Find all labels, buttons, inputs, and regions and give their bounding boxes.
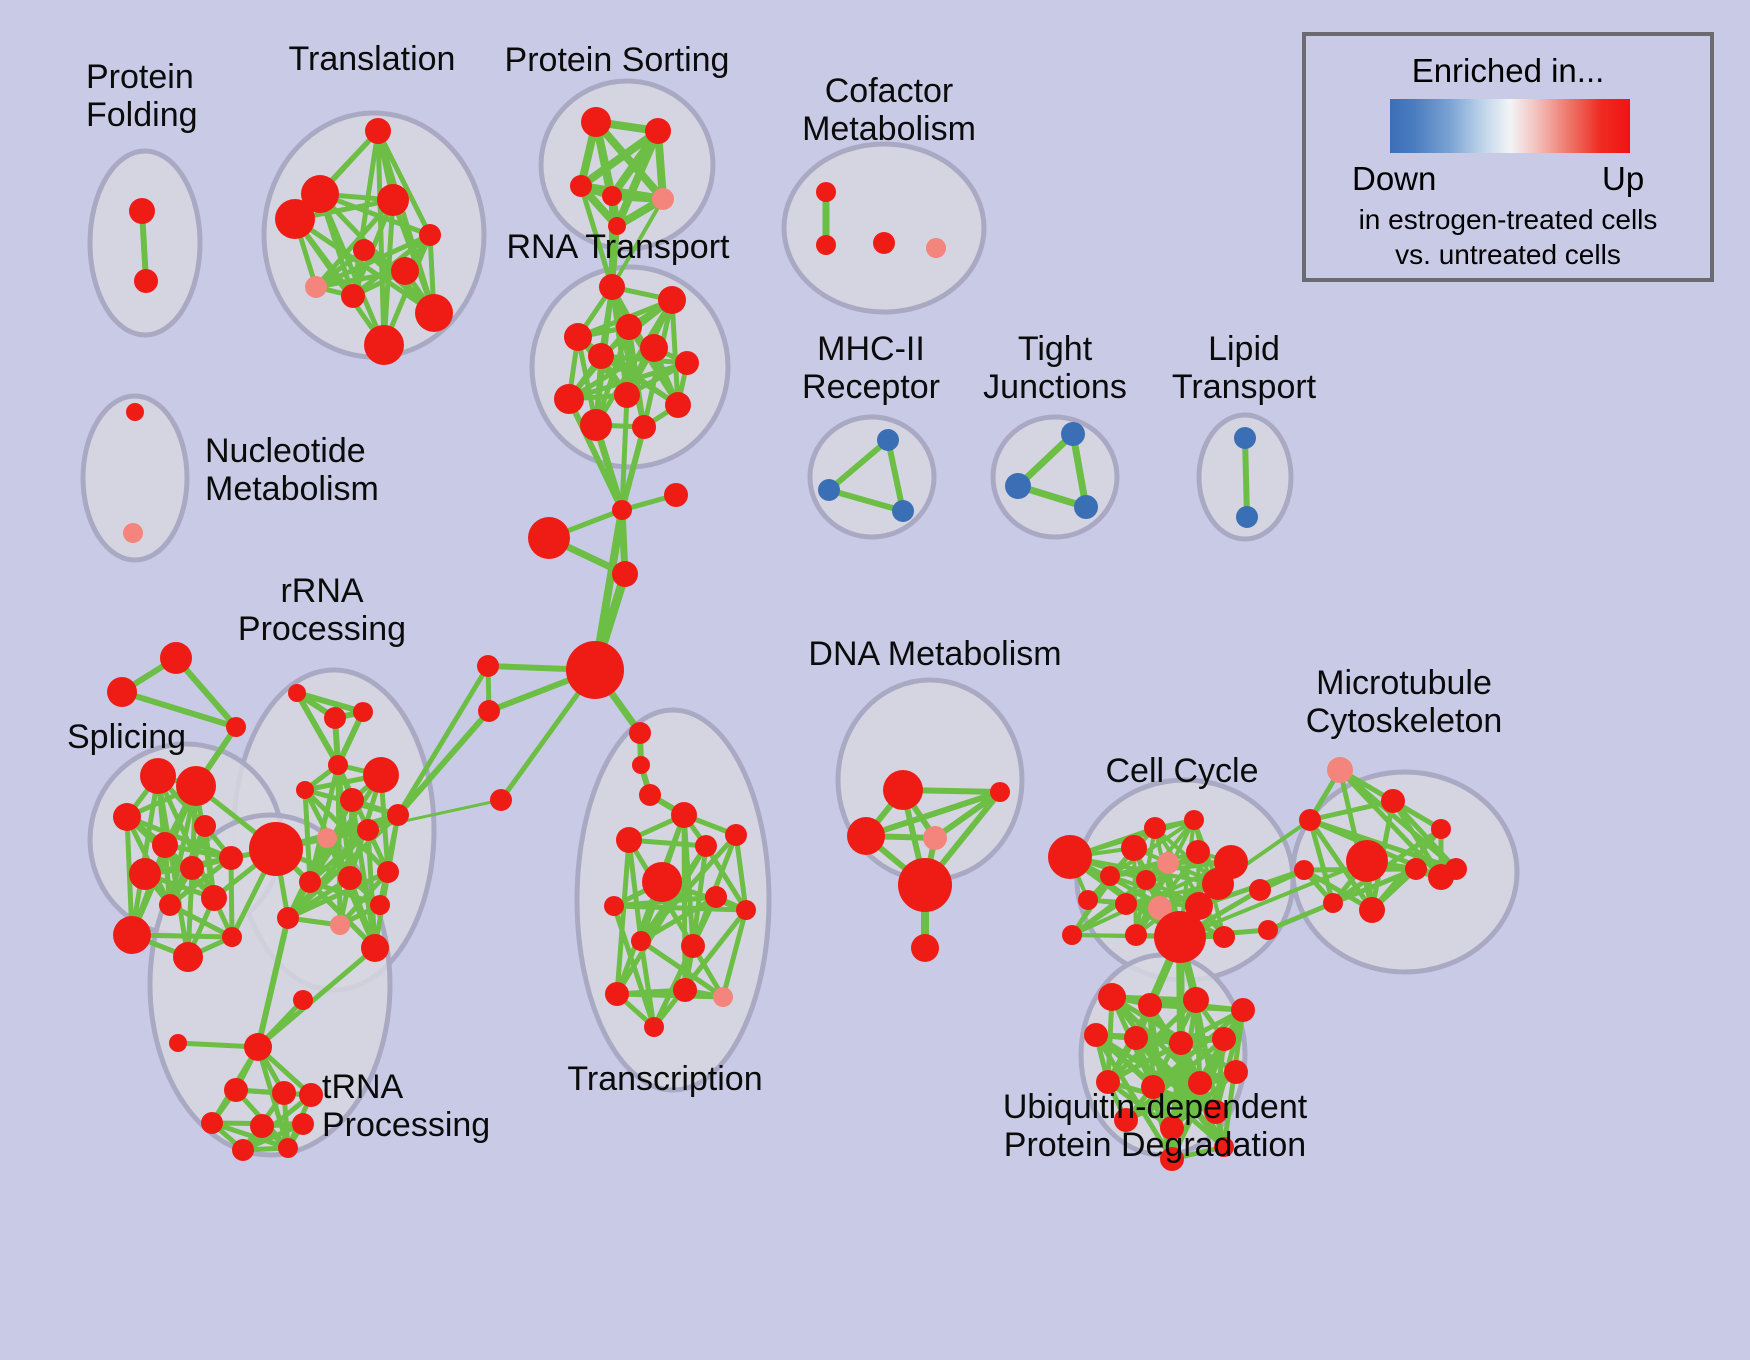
network-node[interactable] bbox=[219, 846, 243, 870]
network-node[interactable] bbox=[1258, 920, 1278, 940]
network-node[interactable] bbox=[632, 756, 650, 774]
network-node[interactable] bbox=[1048, 835, 1092, 879]
network-node[interactable] bbox=[113, 803, 141, 831]
network-node[interactable] bbox=[664, 483, 688, 507]
network-node[interactable] bbox=[176, 766, 216, 806]
legend-high-label: Up bbox=[1602, 160, 1644, 198]
network-node[interactable] bbox=[232, 1139, 254, 1161]
network-node[interactable] bbox=[1121, 835, 1147, 861]
network-node[interactable] bbox=[272, 1081, 296, 1105]
network-node[interactable] bbox=[317, 828, 337, 848]
network-node[interactable] bbox=[338, 866, 362, 890]
network-node[interactable] bbox=[602, 186, 622, 206]
network-node[interactable] bbox=[387, 804, 409, 826]
network-node[interactable] bbox=[126, 403, 144, 421]
network-node[interactable] bbox=[224, 1078, 248, 1102]
network-node[interactable] bbox=[1124, 1026, 1148, 1050]
network-node[interactable] bbox=[681, 934, 705, 958]
cluster-label-translation: Translation bbox=[289, 40, 456, 78]
network-node[interactable] bbox=[642, 862, 682, 902]
network-node[interactable] bbox=[330, 915, 350, 935]
network-node[interactable] bbox=[566, 641, 624, 699]
cluster-label-lipid-transport: Lipid Transport bbox=[1172, 330, 1316, 406]
network-node[interactable] bbox=[249, 822, 303, 876]
network-node[interactable] bbox=[713, 987, 733, 1007]
network-node[interactable] bbox=[1183, 987, 1209, 1013]
network-node[interactable] bbox=[564, 323, 592, 351]
network-node[interactable] bbox=[370, 895, 390, 915]
cluster-label-protein-sorting: Protein Sorting bbox=[505, 41, 730, 79]
network-node[interactable] bbox=[640, 334, 668, 362]
network-node[interactable] bbox=[604, 896, 624, 916]
network-node[interactable] bbox=[1157, 852, 1179, 874]
cluster-label-ubiquitin-protein-degradation: Ubiquitin-dependent Protein Degradation bbox=[1003, 1088, 1307, 1164]
network-node[interactable] bbox=[665, 392, 691, 418]
network-node[interactable] bbox=[632, 415, 656, 439]
network-node[interactable] bbox=[1327, 757, 1353, 783]
cluster-hull-mhc-ii-receptor bbox=[810, 417, 934, 537]
network-node[interactable] bbox=[1405, 858, 1427, 880]
cluster-label-microtubule-cytoskeleton: Microtubule Cytoskeleton bbox=[1306, 664, 1503, 740]
network-node[interactable] bbox=[580, 409, 612, 441]
network-node[interactable] bbox=[377, 861, 399, 883]
network-node[interactable] bbox=[361, 934, 389, 962]
network-node[interactable] bbox=[614, 382, 640, 408]
cluster-label-tight-junctions: Tight Junctions bbox=[983, 330, 1127, 406]
network-node[interactable] bbox=[1224, 1060, 1248, 1084]
network-node[interactable] bbox=[816, 182, 836, 202]
network-node[interactable] bbox=[1098, 983, 1126, 1011]
network-node[interactable] bbox=[160, 642, 192, 674]
network-node[interactable] bbox=[478, 700, 500, 722]
network-node[interactable] bbox=[1078, 890, 1098, 910]
network-node[interactable] bbox=[923, 826, 947, 850]
network-node[interactable] bbox=[652, 188, 674, 210]
network-node[interactable] bbox=[554, 384, 584, 414]
network-node[interactable] bbox=[612, 500, 632, 520]
network-node[interactable] bbox=[180, 856, 204, 880]
network-node[interactable] bbox=[1100, 866, 1120, 886]
network-node[interactable] bbox=[990, 782, 1010, 802]
network-node[interactable] bbox=[140, 758, 176, 794]
network-node[interactable] bbox=[377, 184, 409, 216]
network-node[interactable] bbox=[363, 757, 399, 793]
network-node[interactable] bbox=[695, 835, 717, 857]
network-node[interactable] bbox=[1359, 897, 1385, 923]
network-node[interactable] bbox=[1184, 810, 1204, 830]
network-node[interactable] bbox=[299, 1083, 323, 1107]
network-node[interactable] bbox=[194, 815, 216, 837]
network-node[interactable] bbox=[129, 198, 155, 224]
edge bbox=[1245, 438, 1247, 517]
network-node[interactable] bbox=[883, 770, 923, 810]
cluster-label-trna-processing: tRNA Processing bbox=[322, 1068, 490, 1144]
network-node[interactable] bbox=[892, 500, 914, 522]
legend-low-label: Down bbox=[1352, 160, 1436, 198]
network-node[interactable] bbox=[1299, 809, 1321, 831]
network-node[interactable] bbox=[244, 1033, 272, 1061]
network-node[interactable] bbox=[159, 894, 181, 916]
network-node[interactable] bbox=[631, 931, 651, 951]
network-node[interactable] bbox=[107, 677, 137, 707]
network-node[interactable] bbox=[222, 927, 242, 947]
network-node[interactable] bbox=[605, 982, 629, 1006]
enrichment-map-figure: Protein Folding Translation Protein Sort… bbox=[0, 0, 1750, 1360]
network-node[interactable] bbox=[1445, 858, 1467, 880]
network-node[interactable] bbox=[1136, 870, 1156, 890]
network-node[interactable] bbox=[288, 684, 306, 702]
network-node[interactable] bbox=[629, 722, 651, 744]
network-node[interactable] bbox=[226, 717, 246, 737]
network-node[interactable] bbox=[1231, 998, 1255, 1022]
network-node[interactable] bbox=[1084, 1023, 1108, 1047]
network-node[interactable] bbox=[1186, 840, 1210, 864]
network-node[interactable] bbox=[1169, 1031, 1193, 1055]
network-node[interactable] bbox=[644, 1017, 664, 1037]
network-node[interactable] bbox=[616, 314, 642, 340]
network-node[interactable] bbox=[673, 978, 697, 1002]
edge bbox=[338, 765, 340, 925]
network-node[interactable] bbox=[169, 1034, 187, 1052]
network-node[interactable] bbox=[1213, 926, 1235, 948]
network-node[interactable] bbox=[353, 702, 373, 722]
network-node[interactable] bbox=[152, 832, 178, 858]
network-node[interactable] bbox=[639, 784, 661, 806]
cluster-label-rrna-processing: rRNA Processing bbox=[238, 572, 406, 648]
network-node[interactable] bbox=[818, 479, 840, 501]
network-node[interactable] bbox=[123, 523, 143, 543]
network-node[interactable] bbox=[570, 175, 592, 197]
network-node[interactable] bbox=[250, 1114, 274, 1138]
network-node[interactable] bbox=[1074, 495, 1098, 519]
network-node[interactable] bbox=[588, 343, 614, 369]
network-node[interactable] bbox=[616, 827, 642, 853]
network-node[interactable] bbox=[847, 817, 885, 855]
network-node[interactable] bbox=[1236, 506, 1258, 528]
cluster-label-transcription: Transcription bbox=[567, 1060, 762, 1098]
legend-color-gradient bbox=[1390, 99, 1630, 153]
cluster-label-cell-cycle: Cell Cycle bbox=[1105, 752, 1258, 790]
network-node[interactable] bbox=[340, 788, 364, 812]
cluster-label-nucleotide-metabolism: Nucleotide Metabolism bbox=[205, 432, 379, 508]
network-node[interactable] bbox=[911, 934, 939, 962]
network-node[interactable] bbox=[1062, 925, 1082, 945]
network-node[interactable] bbox=[877, 429, 899, 451]
network-node[interactable] bbox=[1381, 789, 1405, 813]
network-node[interactable] bbox=[490, 789, 512, 811]
network-node[interactable] bbox=[926, 238, 946, 258]
network-node[interactable] bbox=[581, 107, 611, 137]
network-node[interactable] bbox=[1294, 860, 1314, 880]
network-node[interactable] bbox=[898, 858, 952, 912]
network-node[interactable] bbox=[705, 886, 727, 908]
network-node[interactable] bbox=[599, 274, 625, 300]
network-node[interactable] bbox=[113, 916, 151, 954]
network-node[interactable] bbox=[1125, 924, 1147, 946]
network-node[interactable] bbox=[1249, 879, 1271, 901]
network-node[interactable] bbox=[201, 885, 227, 911]
network-node[interactable] bbox=[675, 351, 699, 375]
network-node[interactable] bbox=[275, 199, 315, 239]
network-node[interactable] bbox=[736, 900, 756, 920]
network-node[interactable] bbox=[816, 235, 836, 255]
cluster-label-protein-folding: Protein Folding bbox=[86, 58, 198, 134]
network-node[interactable] bbox=[1323, 893, 1343, 913]
network-node[interactable] bbox=[725, 824, 747, 846]
network-node[interactable] bbox=[328, 755, 348, 775]
network-node[interactable] bbox=[296, 781, 314, 799]
cluster-label-splicing: Splicing bbox=[67, 718, 186, 756]
network-node[interactable] bbox=[419, 224, 441, 246]
cluster-hull-cofactor-metabolism bbox=[784, 144, 984, 312]
legend-caption-line-1: in estrogen-treated cells bbox=[1306, 204, 1710, 236]
cluster-label-mhc-ii-receptor: MHC-II Receptor bbox=[802, 330, 940, 406]
network-node[interactable] bbox=[134, 269, 158, 293]
network-node[interactable] bbox=[341, 284, 365, 308]
cluster-label-rna-transport: RNA Transport bbox=[507, 228, 730, 266]
network-node[interactable] bbox=[357, 819, 379, 841]
network-node[interactable] bbox=[415, 294, 453, 332]
network-node[interactable] bbox=[1138, 993, 1162, 1017]
network-node[interactable] bbox=[1234, 427, 1256, 449]
network-node[interactable] bbox=[292, 1113, 314, 1135]
network-node[interactable] bbox=[671, 802, 697, 828]
legend-title: Enriched in... bbox=[1306, 52, 1710, 90]
cluster-label-dna-metabolism: DNA Metabolism bbox=[808, 635, 1061, 673]
network-node[interactable] bbox=[612, 561, 638, 587]
network-node[interactable] bbox=[1061, 422, 1085, 446]
network-node[interactable] bbox=[1144, 817, 1166, 839]
network-node[interactable] bbox=[201, 1112, 223, 1134]
network-node[interactable] bbox=[305, 276, 327, 298]
network-node[interactable] bbox=[129, 858, 161, 890]
network-node[interactable] bbox=[645, 118, 671, 144]
network-node[interactable] bbox=[391, 257, 419, 285]
network-node[interactable] bbox=[277, 907, 299, 929]
network-node[interactable] bbox=[1346, 840, 1388, 882]
network-node[interactable] bbox=[353, 239, 375, 261]
network-node[interactable] bbox=[1005, 473, 1031, 499]
network-node[interactable] bbox=[1115, 893, 1137, 915]
network-node[interactable] bbox=[364, 325, 404, 365]
network-node[interactable] bbox=[1212, 1027, 1236, 1051]
legend-caption-line-2: vs. untreated cells bbox=[1306, 239, 1710, 271]
cluster-label-cofactor-metabolism: Cofactor Metabolism bbox=[802, 72, 976, 148]
network-node[interactable] bbox=[173, 942, 203, 972]
network-node[interactable] bbox=[278, 1138, 298, 1158]
network-node[interactable] bbox=[477, 655, 499, 677]
network-node[interactable] bbox=[1154, 911, 1206, 963]
network-node[interactable] bbox=[365, 118, 391, 144]
network-node[interactable] bbox=[873, 232, 895, 254]
network-node[interactable] bbox=[299, 871, 321, 893]
network-node[interactable] bbox=[528, 517, 570, 559]
network-node[interactable] bbox=[1431, 819, 1451, 839]
network-node[interactable] bbox=[293, 990, 313, 1010]
network-node[interactable] bbox=[658, 286, 686, 314]
legend-panel: Enriched in... Down Up in estrogen-treat… bbox=[1302, 32, 1714, 282]
network-node[interactable] bbox=[324, 707, 346, 729]
